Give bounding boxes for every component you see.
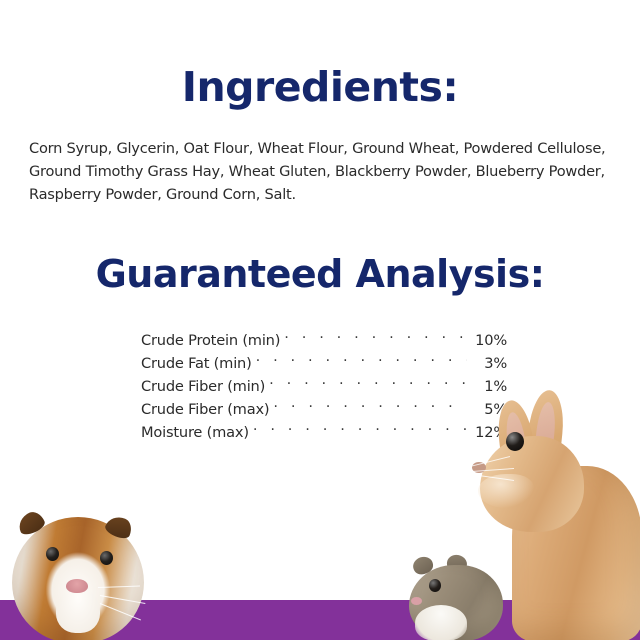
guaranteed-analysis-heading: Guaranteed Analysis: bbox=[0, 252, 640, 296]
rabbit-eye bbox=[506, 432, 524, 451]
analysis-label: Crude Fat (min) bbox=[141, 352, 252, 375]
dot-leader bbox=[269, 368, 467, 391]
guinea-pig-nose bbox=[66, 579, 88, 593]
dot-leader bbox=[256, 345, 467, 368]
guinea-pig-eye-left bbox=[46, 547, 59, 561]
dot-leader bbox=[273, 391, 467, 414]
guinea-pig-muzzle bbox=[56, 589, 100, 633]
dot-leader bbox=[284, 322, 467, 345]
analysis-row: Crude Protein (min) 10% bbox=[141, 322, 507, 345]
hamster-eye bbox=[429, 579, 441, 592]
guaranteed-analysis-table: Crude Protein (min) 10% Crude Fat (min) … bbox=[141, 322, 507, 437]
analysis-value: 10% bbox=[471, 329, 507, 352]
analysis-label: Crude Fiber (min) bbox=[141, 375, 265, 398]
product-info-panel: Ingredients: Corn Syrup, Glycerin, Oat F… bbox=[0, 0, 640, 640]
hamster-nose bbox=[411, 597, 422, 605]
analysis-value: 3% bbox=[471, 352, 507, 375]
dot-leader bbox=[253, 414, 467, 437]
analysis-label: Crude Fiber (max) bbox=[141, 398, 269, 421]
analysis-label: Moisture (max) bbox=[141, 421, 249, 444]
guinea-pig-image bbox=[8, 503, 148, 640]
rabbit-image bbox=[470, 392, 640, 640]
hamster-belly bbox=[415, 605, 467, 640]
ingredients-heading: Ingredients: bbox=[0, 64, 640, 110]
ingredients-list-text: Corn Syrup, Glycerin, Oat Flour, Wheat F… bbox=[29, 137, 614, 206]
guinea-pig-eye-right bbox=[100, 551, 113, 565]
